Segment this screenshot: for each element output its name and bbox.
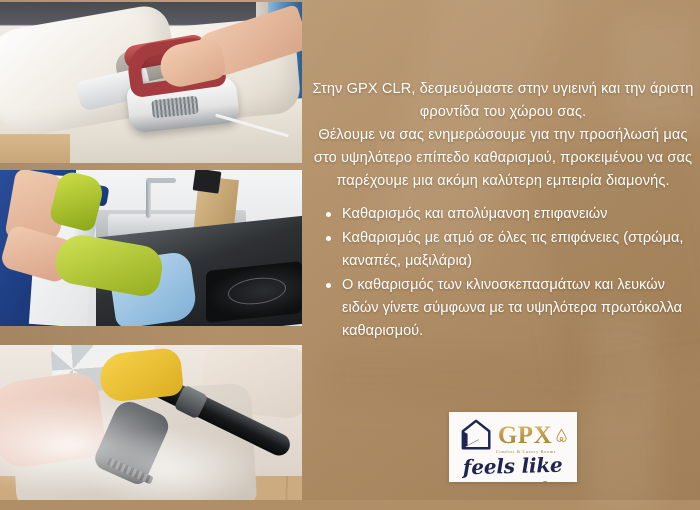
faucet-spout xyxy=(146,178,176,183)
wooden-bed-frame xyxy=(0,134,70,163)
photo-steam-cleaning-sofa-cushion xyxy=(0,345,302,500)
photo-scene xyxy=(0,170,302,326)
text-panel: Στην GPX CLR, δεσμευόμαστε στην υγιεινή … xyxy=(312,78,694,344)
photo-scene xyxy=(0,345,302,500)
photo-handheld-vacuum-on-bed-pillows xyxy=(0,2,302,163)
logo-script-tagline: feels like home! xyxy=(449,452,577,482)
logo-wordmark: GPX xyxy=(498,423,552,448)
faucet xyxy=(146,180,151,218)
background-texture-band xyxy=(321,344,645,415)
photo-gloved-hands-cleaning-kitchen-counter xyxy=(0,170,302,326)
knife-handles xyxy=(193,170,222,194)
list-item: Καθαρισμός και απολύμανση επιφανειών xyxy=(326,203,694,226)
logo-top-row: GPX xyxy=(449,417,577,453)
list-item: Καθαρισμός με ατμό σε όλες τις επιφάνειε… xyxy=(326,227,694,273)
airbnb-badge-icon xyxy=(555,428,568,443)
services-bullet-list: Καθαρισμός και απολύμανση επιφανειών Καθ… xyxy=(312,203,694,343)
gpx-logo-card: GPX Comfort & Luxury Rooms feels like ho… xyxy=(449,412,577,482)
steam-cloud xyxy=(80,429,260,500)
photo-scene xyxy=(0,2,302,163)
intro-paragraph: Στην GPX CLR, δεσμευόμαστε στην υγιεινή … xyxy=(312,78,694,193)
list-item: Ο καθαρισμός των κλινοσκεπασμάτων και λε… xyxy=(326,274,694,343)
gpx-house-play-icon xyxy=(458,418,496,452)
